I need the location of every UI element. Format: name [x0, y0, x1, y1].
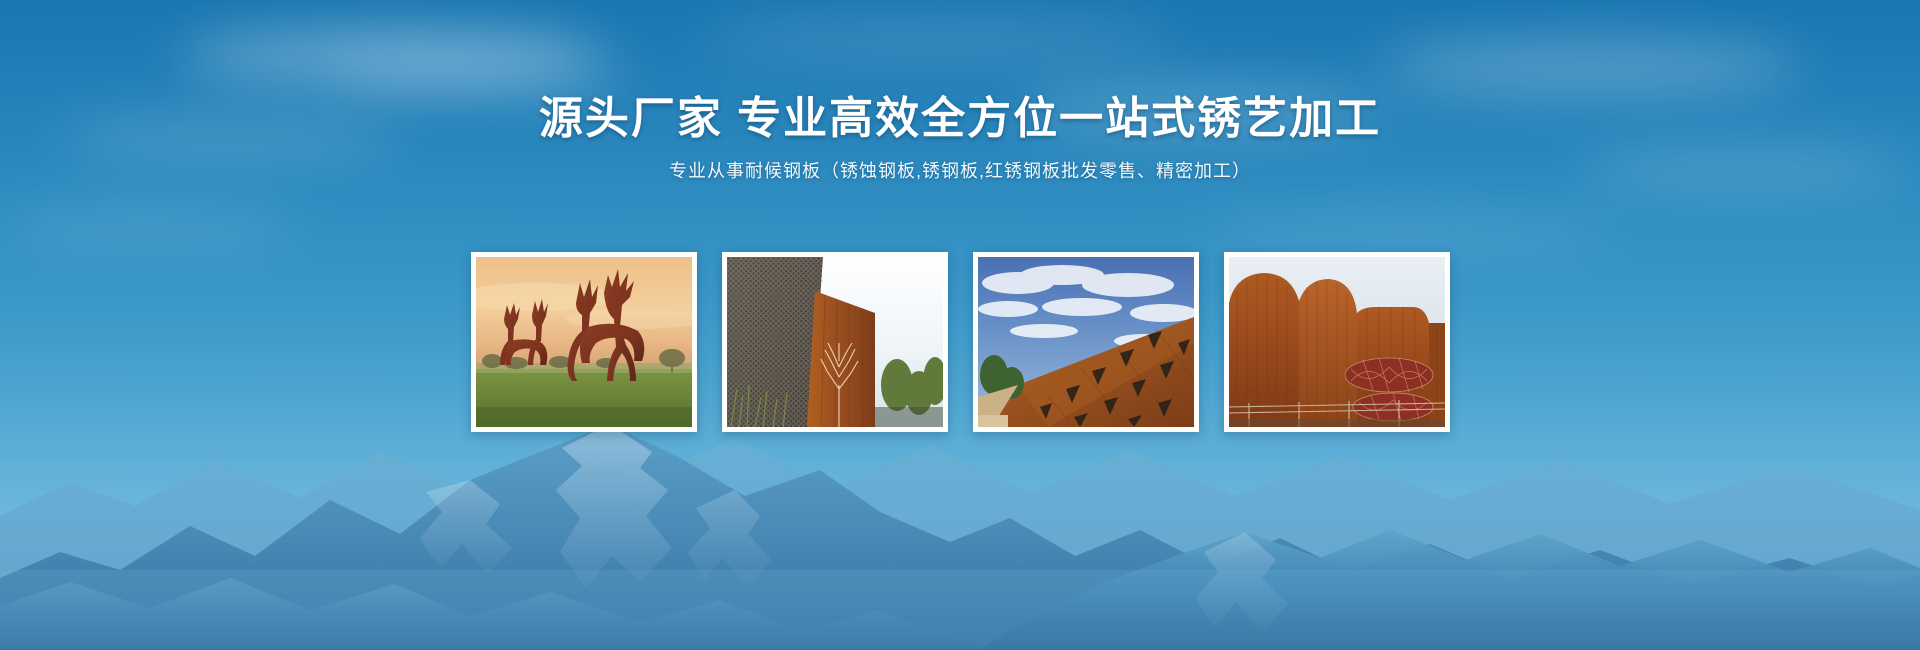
gallery-photo: [476, 257, 692, 427]
cloud-icon: [1200, 215, 1620, 249]
cloud-icon: [1380, 40, 1800, 94]
gallery-card-corten-triangular-facade[interactable]: [973, 252, 1199, 432]
gallery-card-corten-tree-pattern-wall[interactable]: [722, 252, 948, 432]
gallery-card-corten-curved-pavilion[interactable]: [1224, 252, 1450, 432]
cloud-icon: [330, 58, 630, 88]
page-subtitle: 专业从事耐候钢板（锈蚀钢板,锈钢板,红锈钢板批发零售、精密加工）: [0, 158, 1920, 184]
gallery-photo: [1229, 257, 1445, 427]
hero-banner: 源头厂家 专业高效全方位一站式锈艺加工 专业从事耐候钢板（锈蚀钢板,锈钢板,红锈…: [0, 0, 1920, 650]
gallery-photo: [727, 257, 943, 427]
cloud-icon: [0, 210, 300, 244]
cloud-icon: [180, 30, 600, 82]
gallery-photo: [978, 257, 1194, 427]
gallery-card-corten-deer-sculptures[interactable]: [471, 252, 697, 432]
cloud-icon: [700, 18, 1180, 58]
page-title: 源头厂家 专业高效全方位一站式锈艺加工: [0, 92, 1920, 146]
project-gallery: [0, 252, 1920, 432]
